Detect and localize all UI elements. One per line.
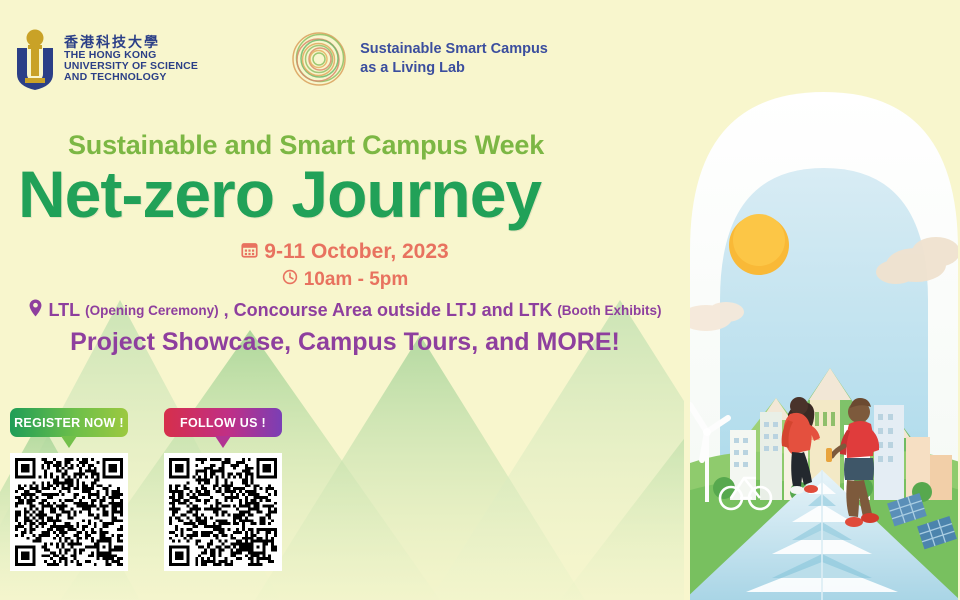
- header: 香港科技大學 THE HONG KONG UNIVERSITY OF SCIEN…: [0, 28, 960, 108]
- headline-block: Sustainable and Smart Campus Week Net-ze…: [0, 132, 700, 357]
- ssc-wordmark: Sustainable Smart Campus as a Living Lab: [360, 40, 548, 77]
- hkust-chinese-name: 香港科技大學: [64, 35, 198, 50]
- hkust-logo: 香港科技大學 THE HONG KONG UNIVERSITY OF SCIEN…: [14, 28, 198, 90]
- register-qr-code[interactable]: [10, 453, 128, 571]
- calendar-icon: [241, 238, 258, 266]
- venue-part-1: LTL: [48, 300, 80, 321]
- event-title: Net-zero Journey: [18, 161, 700, 228]
- event-kicker: Sustainable and Smart Campus Week: [68, 132, 700, 159]
- hkust-wordmark: 香港科技大學 THE HONG KONG UNIVERSITY OF SCIEN…: [64, 35, 198, 83]
- clock-icon: [282, 267, 298, 293]
- event-time-text: 10am - 5pm: [304, 267, 409, 293]
- ssc-line-1: Sustainable Smart Campus: [360, 40, 548, 59]
- venue-note-1: (Opening Ceremony): [85, 303, 219, 318]
- event-meta: 9-11 October, 2023 10am - 5pm: [0, 238, 690, 357]
- concentric-rings-icon: [290, 30, 348, 88]
- ssc-line-2: as a Living Lab: [360, 59, 548, 78]
- location-pin-icon: [28, 299, 43, 322]
- register-cta: REGISTER NOW !: [10, 408, 128, 571]
- event-date-line: 9-11 October, 2023: [0, 238, 690, 266]
- venue-note-2: (Booth Exhibits): [557, 303, 661, 318]
- event-venue-line: LTL (Opening Ceremony) , Concourse Area …: [0, 299, 690, 322]
- sustainable-smart-campus-logo: Sustainable Smart Campus as a Living Lab: [290, 30, 548, 88]
- event-date-text: 9-11 October, 2023: [264, 238, 448, 266]
- follow-us-button[interactable]: FOLLOW US !: [164, 408, 282, 437]
- hkust-english-line-3: AND TECHNOLOGY: [64, 72, 198, 83]
- event-time-line: 10am - 5pm: [0, 267, 690, 293]
- event-showcase-line: Project Showcase, Campus Tours, and MORE…: [0, 328, 690, 357]
- hkust-crest-icon: [14, 28, 56, 90]
- register-now-button[interactable]: REGISTER NOW !: [10, 408, 128, 437]
- follow-cta: FOLLOW US !: [164, 408, 282, 571]
- cta-group: REGISTER NOW ! FOLLOW US !: [10, 408, 282, 571]
- follow-qr-code[interactable]: [164, 453, 282, 571]
- poster-root: 香港科技大學 THE HONG KONG UNIVERSITY OF SCIEN…: [0, 0, 960, 600]
- venue-part-2: , Concourse Area outside LTJ and LTK: [224, 300, 553, 321]
